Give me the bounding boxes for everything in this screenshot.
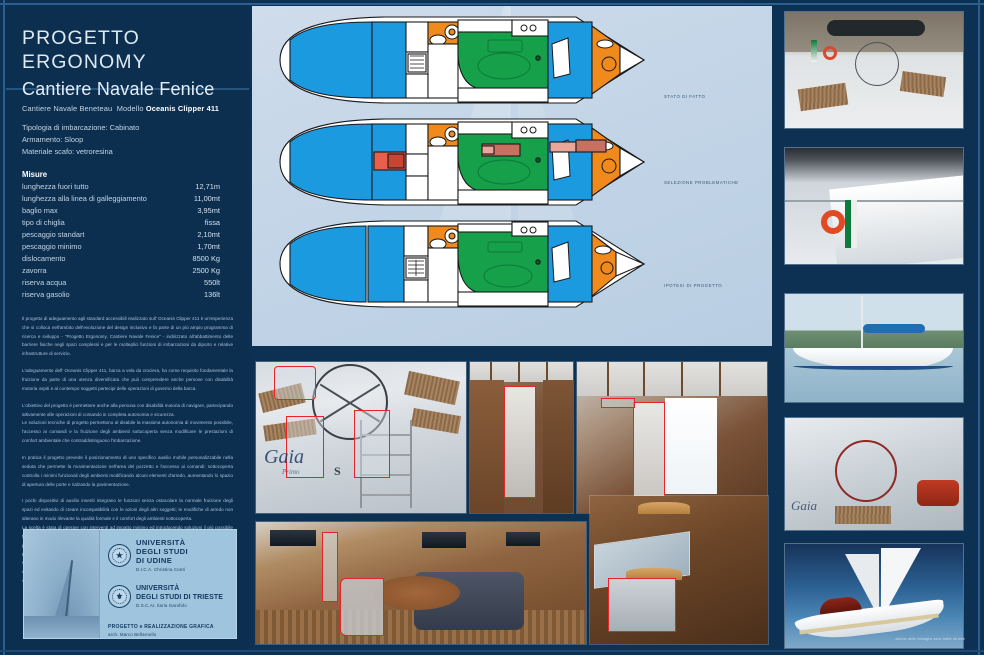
- measure-label: pescaggio standart: [22, 229, 84, 241]
- left-text-column: PROGETTO ERGONOMY Cantiere Navale Fenice…: [6, 6, 249, 649]
- spec-line-armamento: Armamento: Sloop: [22, 134, 235, 146]
- university-trieste-block: ⚜ UNIVERSITÀ DEGLI STUDI DI TRIESTE D.S.…: [108, 585, 230, 608]
- r3-mainsail-cover: [863, 324, 925, 333]
- table-row: lunghezza alla linea di galleggiamento 1…: [22, 193, 220, 205]
- university-udine-text: UNIVERSITÀ DEGLI STUDI DI UDINE D.I.C.A.…: [136, 539, 188, 572]
- r4-teak-deck: [835, 506, 891, 524]
- measures-heading: Misure: [22, 170, 235, 179]
- measure-label: baglio max: [22, 205, 58, 217]
- university-trieste-text: UNIVERSITÀ DEGLI STUDI DI TRIESTE D.S.C.…: [136, 585, 223, 608]
- deck-plans-area: STATO DI FATTO SELEZIONE PROBLEMATICHE I…: [252, 6, 772, 346]
- paragraph-3: L'obiettivo del progetto è permettere an…: [22, 402, 233, 420]
- measure-label: dislocamento: [22, 253, 66, 265]
- deck-plan-ipotesi-di-progetto: [276, 218, 648, 310]
- annotation-region-1: [274, 366, 316, 400]
- measure-value: 11,00mt: [194, 193, 220, 205]
- measure-value: 2,10mt: [197, 229, 220, 241]
- corridor-bright-opening: [665, 398, 717, 494]
- photo-cockpit-moored: [785, 12, 963, 128]
- right-photo-column: Gaia alcune delle immagini sono tratte d…: [775, 6, 977, 649]
- photo-marina-boats: [785, 148, 963, 264]
- uni-trieste-line1: UNIVERSITÀ: [136, 585, 223, 593]
- graphics-credit-author: arch. Marco Bellarnello: [108, 632, 230, 637]
- poster-canvas: PROGETTO ERGONOMY Cantiere Navale Fenice…: [0, 0, 984, 655]
- title-block: PROGETTO ERGONOMY Cantiere Navale Fenice: [6, 6, 249, 90]
- graphics-credit-block: PROGETTO e REALIZZAZIONE GRAFICA arch. M…: [108, 624, 230, 637]
- annotation-saloon-doorway: [322, 532, 338, 602]
- uni-udine-department: D.I.C.A. Christina Conti: [136, 567, 188, 572]
- plan-caption-1: STATO DI FATTO: [664, 94, 705, 99]
- annotation-corridor-door: [633, 402, 665, 510]
- r2-life-ring: [821, 210, 845, 234]
- table-row: zavorra 2500 Kg: [22, 265, 220, 277]
- r4-hull-name: Gaia: [791, 498, 817, 514]
- measure-value: fissa: [205, 217, 220, 229]
- r3-mast: [861, 296, 863, 350]
- table-row: tipo di chiglia fissa: [22, 217, 220, 229]
- paragraph-5: In pratica il progetto prevede il posizi…: [22, 454, 233, 489]
- measure-label: lunghezza alla linea di galleggiamento: [22, 193, 147, 205]
- r2-italian-flag: [845, 200, 857, 248]
- photo-cockpit-annotated: Gaia Primo S: [256, 362, 466, 513]
- seal-glyph-trieste: ⚜: [109, 586, 130, 607]
- frame-line-right: [978, 0, 980, 655]
- measure-label: zavorra: [22, 265, 47, 277]
- photo-seat-aid-detail: [590, 496, 768, 644]
- table-row: baglio max 3,95mt: [22, 205, 220, 217]
- measure-label: riserva gasolio: [22, 289, 70, 301]
- photo-cockpit-overview: Gaia: [785, 418, 963, 530]
- annotation-door-panel: [504, 386, 536, 498]
- measure-label: tipo di chiglia: [22, 217, 65, 229]
- table-row: dislocamento 8500 Kg: [22, 253, 220, 265]
- maker-model-line: Cantiere Navale Beneteau Modello Oceanis…: [22, 104, 235, 113]
- model-label: Modello: [117, 104, 144, 113]
- deck-plan-stato-di-fatto: [276, 14, 648, 106]
- page-title: PROGETTO ERGONOMY: [22, 26, 249, 75]
- spec-line-materiale: Materiale scafo: vetroresina: [22, 146, 235, 158]
- table-row: pescaggio minimo 1,70mt: [22, 241, 220, 253]
- paragraph-2: L'adeguamento dell' Oceanis Clipper 411,…: [22, 367, 233, 394]
- measure-label: riserva acqua: [22, 277, 66, 289]
- r4-red-cushion: [917, 480, 959, 506]
- graphics-credit-label: PROGETTO e REALIZZAZIONE GRAFICA: [108, 624, 230, 630]
- paragraph-6: I pochi dispositivi di ausilio inseriti …: [22, 497, 233, 524]
- university-seal-icon: ★: [108, 544, 131, 567]
- annotation-corridor-header: [601, 398, 635, 408]
- corridor-ceiling: [577, 362, 767, 396]
- detail-wood-top: [638, 502, 690, 514]
- specification-block: Cantiere Navale Beneteau Modello Oceanis…: [6, 90, 249, 301]
- table-row: riserva gasolio 136lt: [22, 289, 220, 301]
- credits-sailboat-photo: [24, 530, 100, 638]
- hull-name-subtext: Primo: [282, 468, 300, 476]
- photo-collage: Gaia Primo S: [252, 346, 772, 649]
- r1-steering-wheel: [855, 42, 899, 86]
- uni-udine-line3: DI UDINE: [136, 557, 188, 566]
- saloon-table: [374, 576, 460, 610]
- maker-name: Cantiere Navale Beneteau: [22, 104, 112, 113]
- saloon-window-left: [270, 530, 316, 546]
- plan-caption-3: IPOTESI DI PROGETTO: [664, 283, 722, 288]
- deck-plan-selezione-problematiche: [276, 116, 648, 208]
- uni-trieste-department: D.S.C.Ar. Ilaria Garofolo: [136, 603, 223, 608]
- measure-label: lunghezza fuori tutto: [22, 181, 89, 193]
- photo-boat-at-anchor: [785, 294, 963, 402]
- measure-label: pescaggio minimo: [22, 241, 82, 253]
- sailboat-water-shape: [24, 616, 99, 638]
- paragraph-4: Le soluzioni tecniche di progetto permet…: [22, 419, 233, 446]
- credits-panel: ★ UNIVERSITÀ DEGLI STUDI DI UDINE D.I.C.…: [23, 529, 237, 639]
- photo-source-caption: alcune delle immagini sono tratte da web: [896, 637, 965, 641]
- saloon-window-right: [422, 532, 466, 548]
- frame-line-top: [0, 3, 984, 5]
- photo-saloon-annotated: [256, 522, 586, 644]
- photo-cabin-door-annotated: [470, 362, 573, 513]
- r1-italian-flag: [811, 40, 817, 62]
- table-row: pescaggio standart 2,10mt: [22, 229, 220, 241]
- annotation-region-3: [354, 410, 390, 478]
- cabin-ceiling: [470, 362, 573, 382]
- saloon-window-right-2: [506, 532, 540, 546]
- seal-glyph-udine: ★: [109, 545, 130, 566]
- spec-lines: Tipologia di imbarcazione: Cabinato Arma…: [22, 122, 235, 158]
- frame-line-left: [3, 0, 5, 655]
- university-udine-block: ★ UNIVERSITÀ DEGLI STUDI DI UDINE D.I.C.…: [108, 539, 230, 572]
- measure-value: 136lt: [204, 289, 220, 301]
- annotation-seat-aid: [608, 578, 676, 632]
- annotation-saloon-seat-aid: [340, 578, 384, 636]
- door-frame-left: [470, 380, 504, 513]
- measure-value: 3,95mt: [197, 205, 220, 217]
- r1-boom-cover: [827, 20, 925, 36]
- uni-trieste-line2: DEGLI STUDI DI TRIESTE: [136, 594, 223, 602]
- photo-corridor-annotated: [577, 362, 767, 513]
- r4-steering-wheel: [835, 440, 897, 502]
- r2-guardrail: [785, 200, 963, 202]
- plan-caption-2: SELEZIONE PROBLEMATICHE: [664, 180, 739, 185]
- hull-name-text: Gaia: [264, 446, 304, 469]
- university-seal-icon: ⚜: [108, 585, 131, 608]
- stern-letter-mark: S: [334, 464, 341, 479]
- model-value: Oceanis Clipper 411: [146, 104, 219, 113]
- r1-life-ring: [823, 46, 837, 60]
- measure-value: 12,71m: [195, 181, 220, 193]
- table-row: riserva acqua 550lt: [22, 277, 220, 289]
- frame-line-bottom: [0, 650, 984, 652]
- door-frame-right: [543, 380, 573, 513]
- measures-table: lunghezza fuori tutto 12,71m lunghezza a…: [22, 181, 220, 301]
- measure-value: 2500 Kg: [192, 265, 220, 277]
- photo-boat-sailing: [785, 544, 963, 648]
- measure-value: 1,70mt: [197, 241, 220, 253]
- measure-value: 8500 Kg: [192, 253, 220, 265]
- paragraph-1: Il progetto di adeguamento agli standard…: [22, 315, 233, 359]
- spec-line-tipologia: Tipologia di imbarcazione: Cabinato: [22, 122, 235, 134]
- table-row: lunghezza fuori tutto 12,71m: [22, 181, 220, 193]
- center-column: STATO DI FATTO SELEZIONE PROBLEMATICHE I…: [252, 6, 772, 649]
- measure-value: 550lt: [204, 277, 220, 289]
- credits-body: ★ UNIVERSITÀ DEGLI STUDI DI UDINE D.I.C.…: [100, 530, 236, 638]
